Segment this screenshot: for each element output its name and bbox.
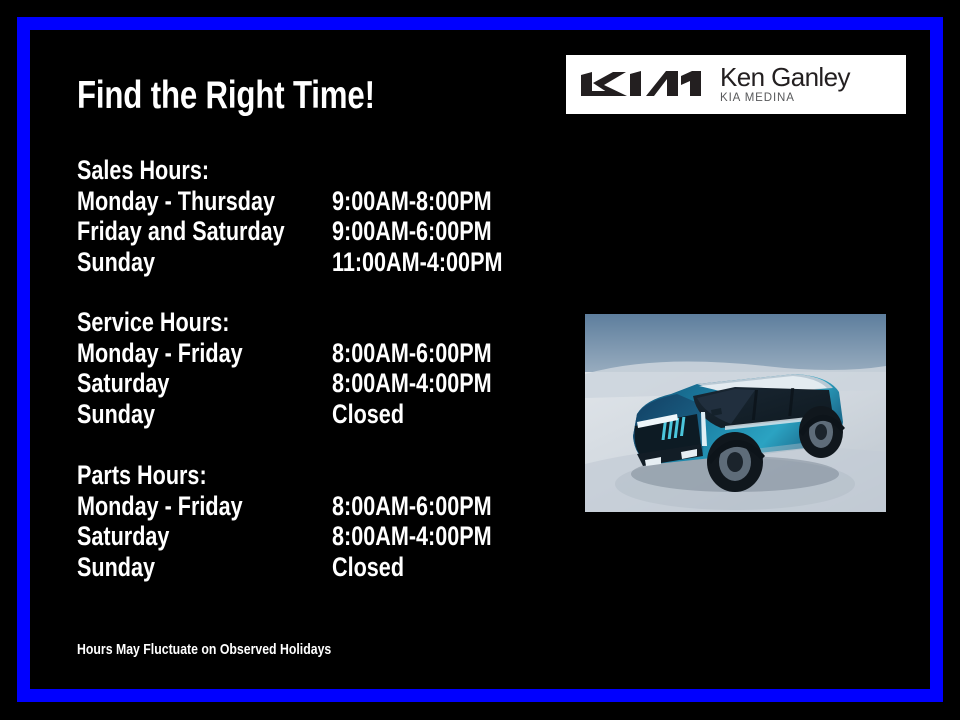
hours-row: Sunday Closed (77, 552, 239, 583)
dealer-logo-plate: Ken Ganley KIA MEDINA (566, 55, 906, 114)
page-title: Find the Right Time! (77, 76, 375, 117)
time-label: 8:00AM-6:00PM (332, 491, 492, 522)
parts-hours-block: Parts Hours: Monday - Friday 8:00AM-6:00… (77, 460, 239, 582)
hours-row: Monday - Thursday 9:00AM-8:00PM (77, 186, 242, 217)
service-hours-heading: Service Hours: (77, 307, 229, 338)
sales-hours-heading: Sales Hours: (77, 155, 209, 186)
dealer-logo-text: Ken Ganley KIA MEDINA (720, 64, 850, 105)
hours-row: Friday and Saturday 9:00AM-6:00PM (77, 216, 242, 247)
dealer-location-label: KIA MEDINA (720, 91, 850, 105)
hours-row: Monday - Friday 8:00AM-6:00PM (77, 338, 268, 369)
time-label: Closed (332, 399, 404, 430)
day-label: Sunday (77, 552, 155, 583)
time-label: 8:00AM-4:00PM (332, 521, 492, 552)
time-label: 8:00AM-6:00PM (332, 338, 492, 369)
time-label: Closed (332, 552, 404, 583)
hours-row: Sunday Closed (77, 399, 268, 430)
day-label: Saturday (77, 521, 169, 552)
hours-row: Monday - Friday 8:00AM-6:00PM (77, 491, 239, 522)
kia-logo-icon (578, 68, 704, 102)
day-label: Saturday (77, 368, 169, 399)
service-hours-block: Service Hours: Monday - Friday 8:00AM-6:… (77, 307, 268, 429)
day-label: Monday - Friday (77, 491, 243, 522)
hours-row: Sunday 11:00AM-4:00PM (77, 247, 242, 278)
dealer-name: Ken Ganley (720, 64, 850, 91)
day-label: Sunday (77, 399, 155, 430)
hours-row: Saturday 8:00AM-4:00PM (77, 521, 239, 552)
day-label: Monday - Friday (77, 338, 243, 369)
day-label: Monday - Thursday (77, 186, 275, 217)
time-label: 9:00AM-8:00PM (332, 186, 492, 217)
day-label: Friday and Saturday (77, 216, 285, 247)
day-label: Sunday (77, 247, 155, 278)
time-label: 8:00AM-4:00PM (332, 368, 492, 399)
hours-row: Saturday 8:00AM-4:00PM (77, 368, 268, 399)
time-label: 9:00AM-6:00PM (332, 216, 492, 247)
parts-hours-heading: Parts Hours: (77, 460, 207, 491)
dealership-hours-slide: Find the Right Time! Sales Hours: Monday… (0, 0, 960, 720)
time-label: 11:00AM-4:00PM (332, 247, 502, 278)
sales-hours-block: Sales Hours: Monday - Thursday 9:00AM-8:… (77, 155, 242, 277)
holiday-disclaimer: Hours May Fluctuate on Observed Holidays (77, 641, 331, 658)
kia-ev9-suv-photo (585, 314, 886, 512)
